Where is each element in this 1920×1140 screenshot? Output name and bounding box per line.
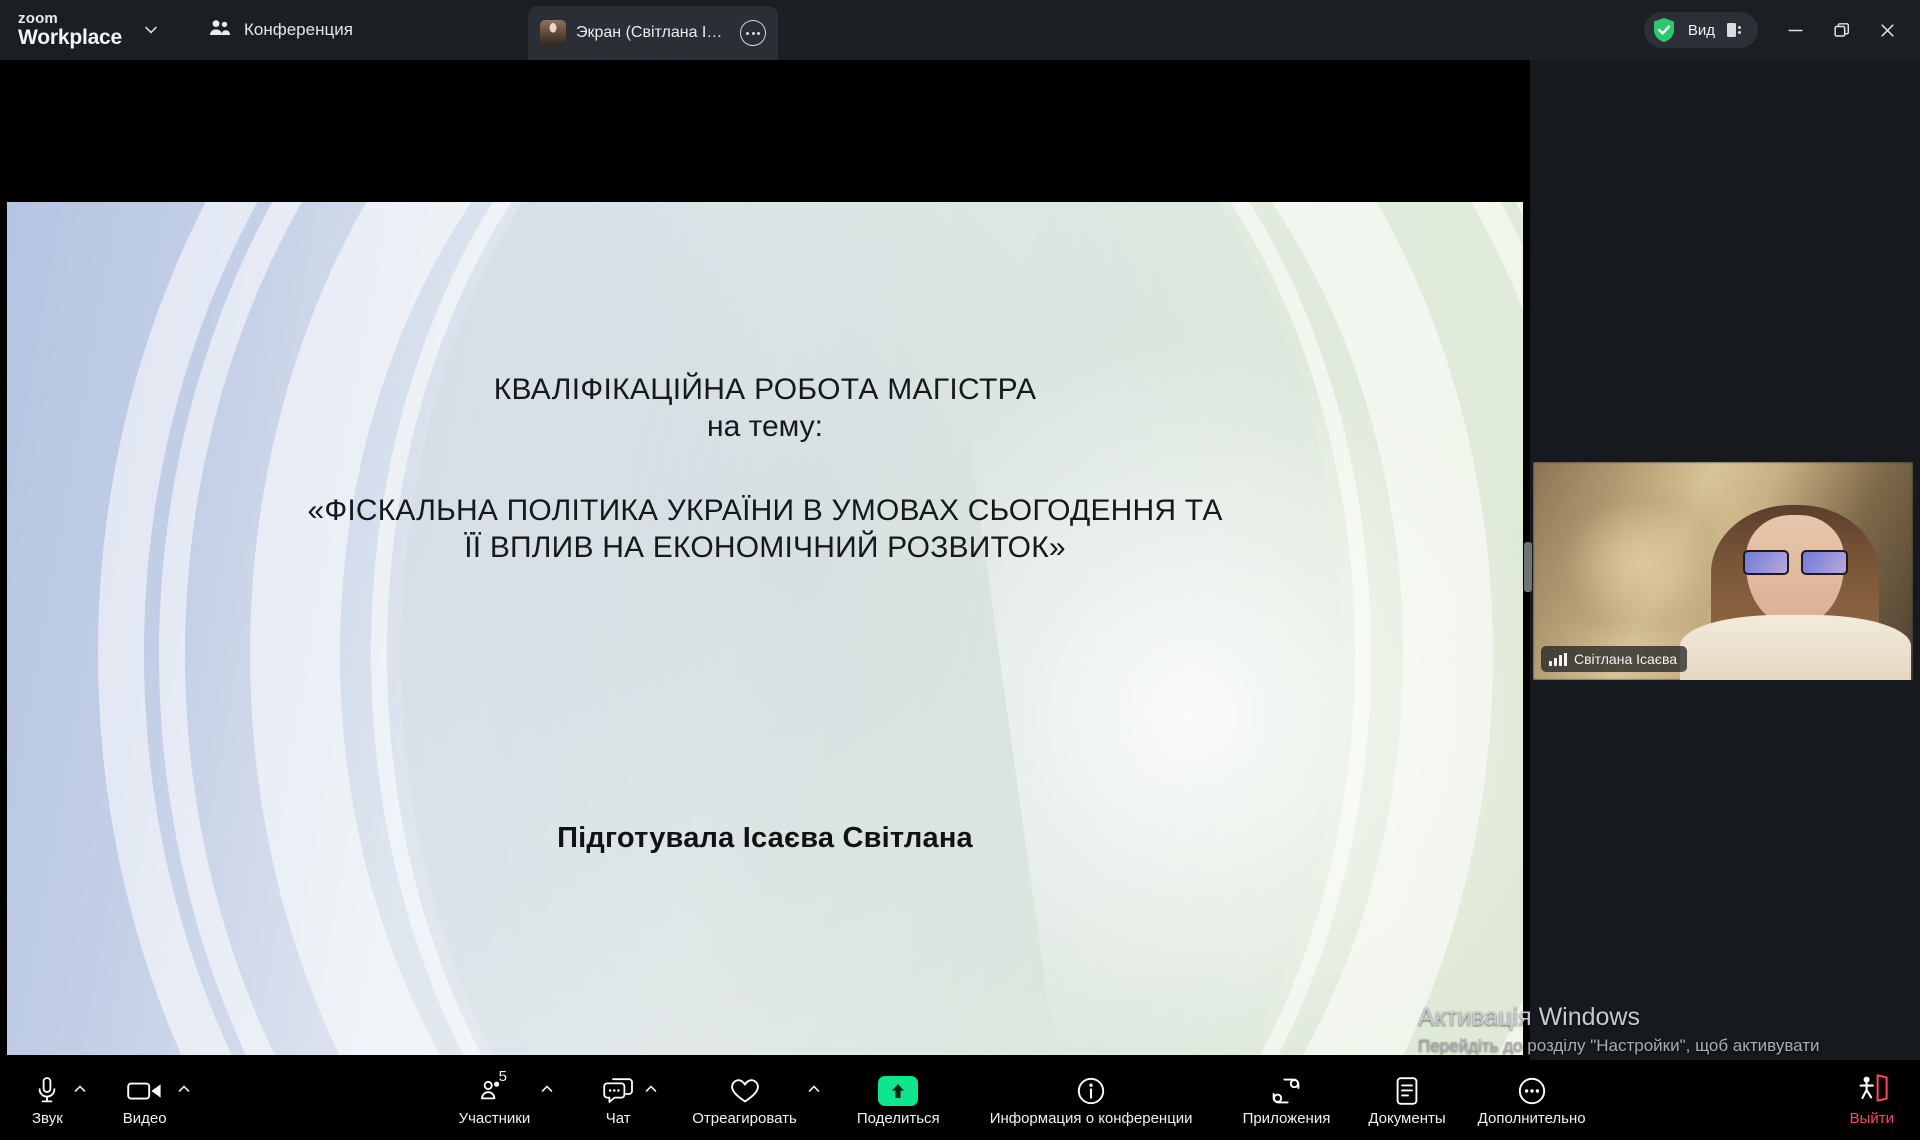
participants-button[interactable]: 5 Участники bbox=[453, 1064, 537, 1136]
view-toggle-button[interactable]: Вид bbox=[1644, 12, 1758, 48]
share-screen-button[interactable]: Поделиться bbox=[851, 1064, 946, 1136]
react-options-chevron-up-icon[interactable] bbox=[803, 1064, 825, 1136]
window-controls: Вид bbox=[1644, 0, 1920, 60]
chat-label: Чат bbox=[606, 1110, 631, 1127]
share-label: Поделиться bbox=[857, 1110, 940, 1127]
apps-icon bbox=[1271, 1074, 1301, 1108]
slide-heading-block: КВАЛІФІКАЦІЙНА РОБОТА МАГІСТРА на тему: … bbox=[7, 372, 1523, 566]
video-options-chevron-up-icon[interactable] bbox=[173, 1064, 195, 1136]
meeting-info-label: Информация о конференции bbox=[990, 1110, 1193, 1127]
meeting-info-button[interactable]: Информация о конференции bbox=[984, 1064, 1199, 1136]
video-background-blur bbox=[1563, 493, 1715, 633]
participants-options-chevron-up-icon[interactable] bbox=[536, 1064, 558, 1136]
brand-workplace-text: Workplace bbox=[18, 27, 126, 49]
presentation-slide: КВАЛІФІКАЦІЙНА РОБОТА МАГІСТРА на тему: … bbox=[7, 202, 1523, 1055]
people-icon bbox=[208, 18, 232, 43]
nav-item-meeting-label: Конференция bbox=[244, 20, 353, 40]
react-label: Отреагировать bbox=[692, 1110, 797, 1127]
meeting-toolbar: Звук Видео bbox=[0, 1060, 1920, 1140]
more-ellipsis-icon bbox=[1517, 1074, 1547, 1108]
zoom-window: zoom Workplace Конференция Экран (Світла… bbox=[0, 0, 1920, 1140]
apps-label: Приложения bbox=[1243, 1110, 1331, 1127]
leave-meeting-button[interactable]: Выйти bbox=[1850, 1064, 1894, 1136]
view-label: Вид bbox=[1688, 22, 1715, 39]
react-button[interactable]: Отреагировать bbox=[686, 1064, 803, 1136]
share-icon bbox=[878, 1074, 918, 1108]
maximize-icon[interactable] bbox=[1818, 0, 1864, 60]
heart-icon bbox=[729, 1074, 761, 1108]
chat-button[interactable]: Чат bbox=[596, 1064, 640, 1136]
audio-button[interactable]: Звук bbox=[26, 1064, 69, 1136]
audio-options-chevron-up-icon[interactable] bbox=[69, 1064, 91, 1136]
participants-count: 5 bbox=[499, 1068, 507, 1085]
chevron-down-icon[interactable] bbox=[134, 13, 168, 47]
participant-figure bbox=[1708, 497, 1883, 680]
video-label: Видео bbox=[123, 1110, 167, 1127]
slide-heading-line2: на тему: bbox=[7, 409, 1523, 446]
documents-label: Документы bbox=[1368, 1110, 1445, 1127]
participants-label: Участники bbox=[459, 1110, 531, 1127]
close-icon[interactable] bbox=[1864, 0, 1910, 60]
video-panel-drag-handle[interactable] bbox=[1524, 542, 1532, 592]
microphone-icon bbox=[34, 1074, 60, 1108]
leave-label: Выйти bbox=[1850, 1110, 1894, 1127]
title-bar: zoom Workplace Конференция Экран (Світла… bbox=[0, 0, 1920, 60]
chat-options-chevron-up-icon[interactable] bbox=[640, 1064, 662, 1136]
participant-name-label: Світлана Ісаєва bbox=[1574, 651, 1677, 667]
view-layout-icon bbox=[1727, 23, 1744, 38]
minimize-icon[interactable] bbox=[1772, 0, 1818, 60]
signal-bars-icon bbox=[1549, 653, 1567, 666]
tab-avatar bbox=[540, 20, 566, 46]
leave-door-icon bbox=[1854, 1073, 1890, 1108]
participant-name-badge: Світлана Ісаєва bbox=[1541, 646, 1687, 672]
tab-label: Экран (Світлана Ісаєва) bbox=[576, 24, 730, 42]
slide-thesis-title: «ФІСКАЛЬНА ПОЛІТИКА УКРАЇНИ В УМОВАХ СЬО… bbox=[7, 493, 1523, 566]
zoom-workplace-logo: zoom Workplace bbox=[18, 11, 126, 49]
documents-button[interactable]: Документы bbox=[1362, 1064, 1451, 1136]
camera-icon bbox=[127, 1074, 163, 1108]
chat-icon bbox=[602, 1074, 634, 1108]
audio-label: Звук bbox=[32, 1110, 63, 1127]
apps-button[interactable]: Приложения bbox=[1237, 1064, 1337, 1136]
ellipsis-icon[interactable] bbox=[740, 20, 766, 46]
encryption-shield-icon[interactable] bbox=[1652, 17, 1676, 43]
slide-author: Підготувала Ісаєва Світлана bbox=[7, 822, 1523, 855]
more-options-button[interactable]: Дополнительно bbox=[1472, 1064, 1592, 1136]
nav-item-meeting[interactable]: Конференция bbox=[198, 12, 363, 49]
shared-screen-stage: КВАЛІФІКАЦІЙНА РОБОТА МАГІСТРА на тему: … bbox=[0, 60, 1530, 1060]
brand-zoom-text: zoom bbox=[18, 11, 126, 27]
video-button[interactable]: Видео bbox=[117, 1064, 173, 1136]
slide-heading-line1: КВАЛІФІКАЦІЙНА РОБОТА МАГІСТРА bbox=[7, 372, 1523, 409]
info-icon bbox=[1076, 1074, 1106, 1108]
participant-video-tile[interactable]: Світлана Ісаєва bbox=[1533, 462, 1913, 680]
more-label: Дополнительно bbox=[1478, 1110, 1586, 1127]
document-icon bbox=[1395, 1074, 1419, 1108]
tab-shared-screen[interactable]: Экран (Світлана Ісаєва) bbox=[528, 6, 778, 60]
